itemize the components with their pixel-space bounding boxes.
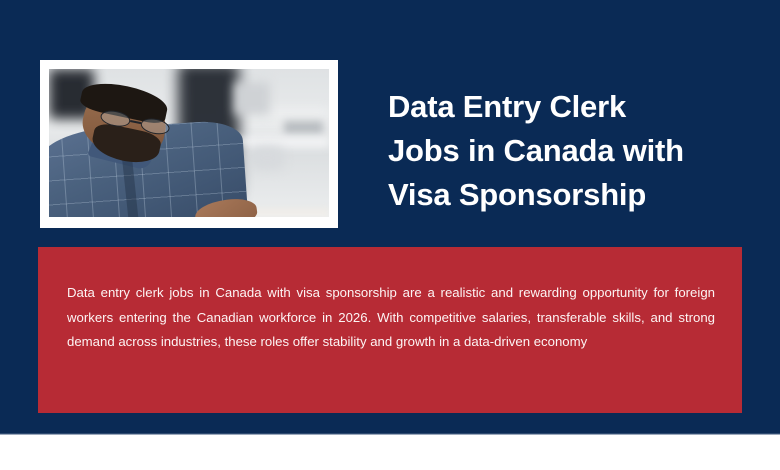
photo-background-box-b: [251, 146, 285, 170]
summary-paragraph: Data entry clerk jobs in Canada with vis…: [67, 281, 715, 355]
glasses-bridge: [130, 121, 141, 125]
bottom-white-band: [0, 435, 780, 470]
page-title-line-1: Data Entry Clerk: [388, 85, 758, 129]
poster-canvas: Data Entry Clerk Jobs in Canada with Vis…: [0, 0, 780, 470]
photo-background-box-c: [284, 121, 323, 134]
page-title: Data Entry Clerk Jobs in Canada with Vis…: [388, 85, 758, 217]
photo-frame: [40, 60, 338, 228]
hero-photo: [49, 69, 329, 217]
page-title-line-2: Jobs in Canada with: [388, 129, 758, 173]
summary-callout: Data entry clerk jobs in Canada with vis…: [38, 247, 742, 413]
photo-person: [49, 105, 245, 217]
page-title-line-3: Visa Sponsorship: [388, 173, 758, 217]
